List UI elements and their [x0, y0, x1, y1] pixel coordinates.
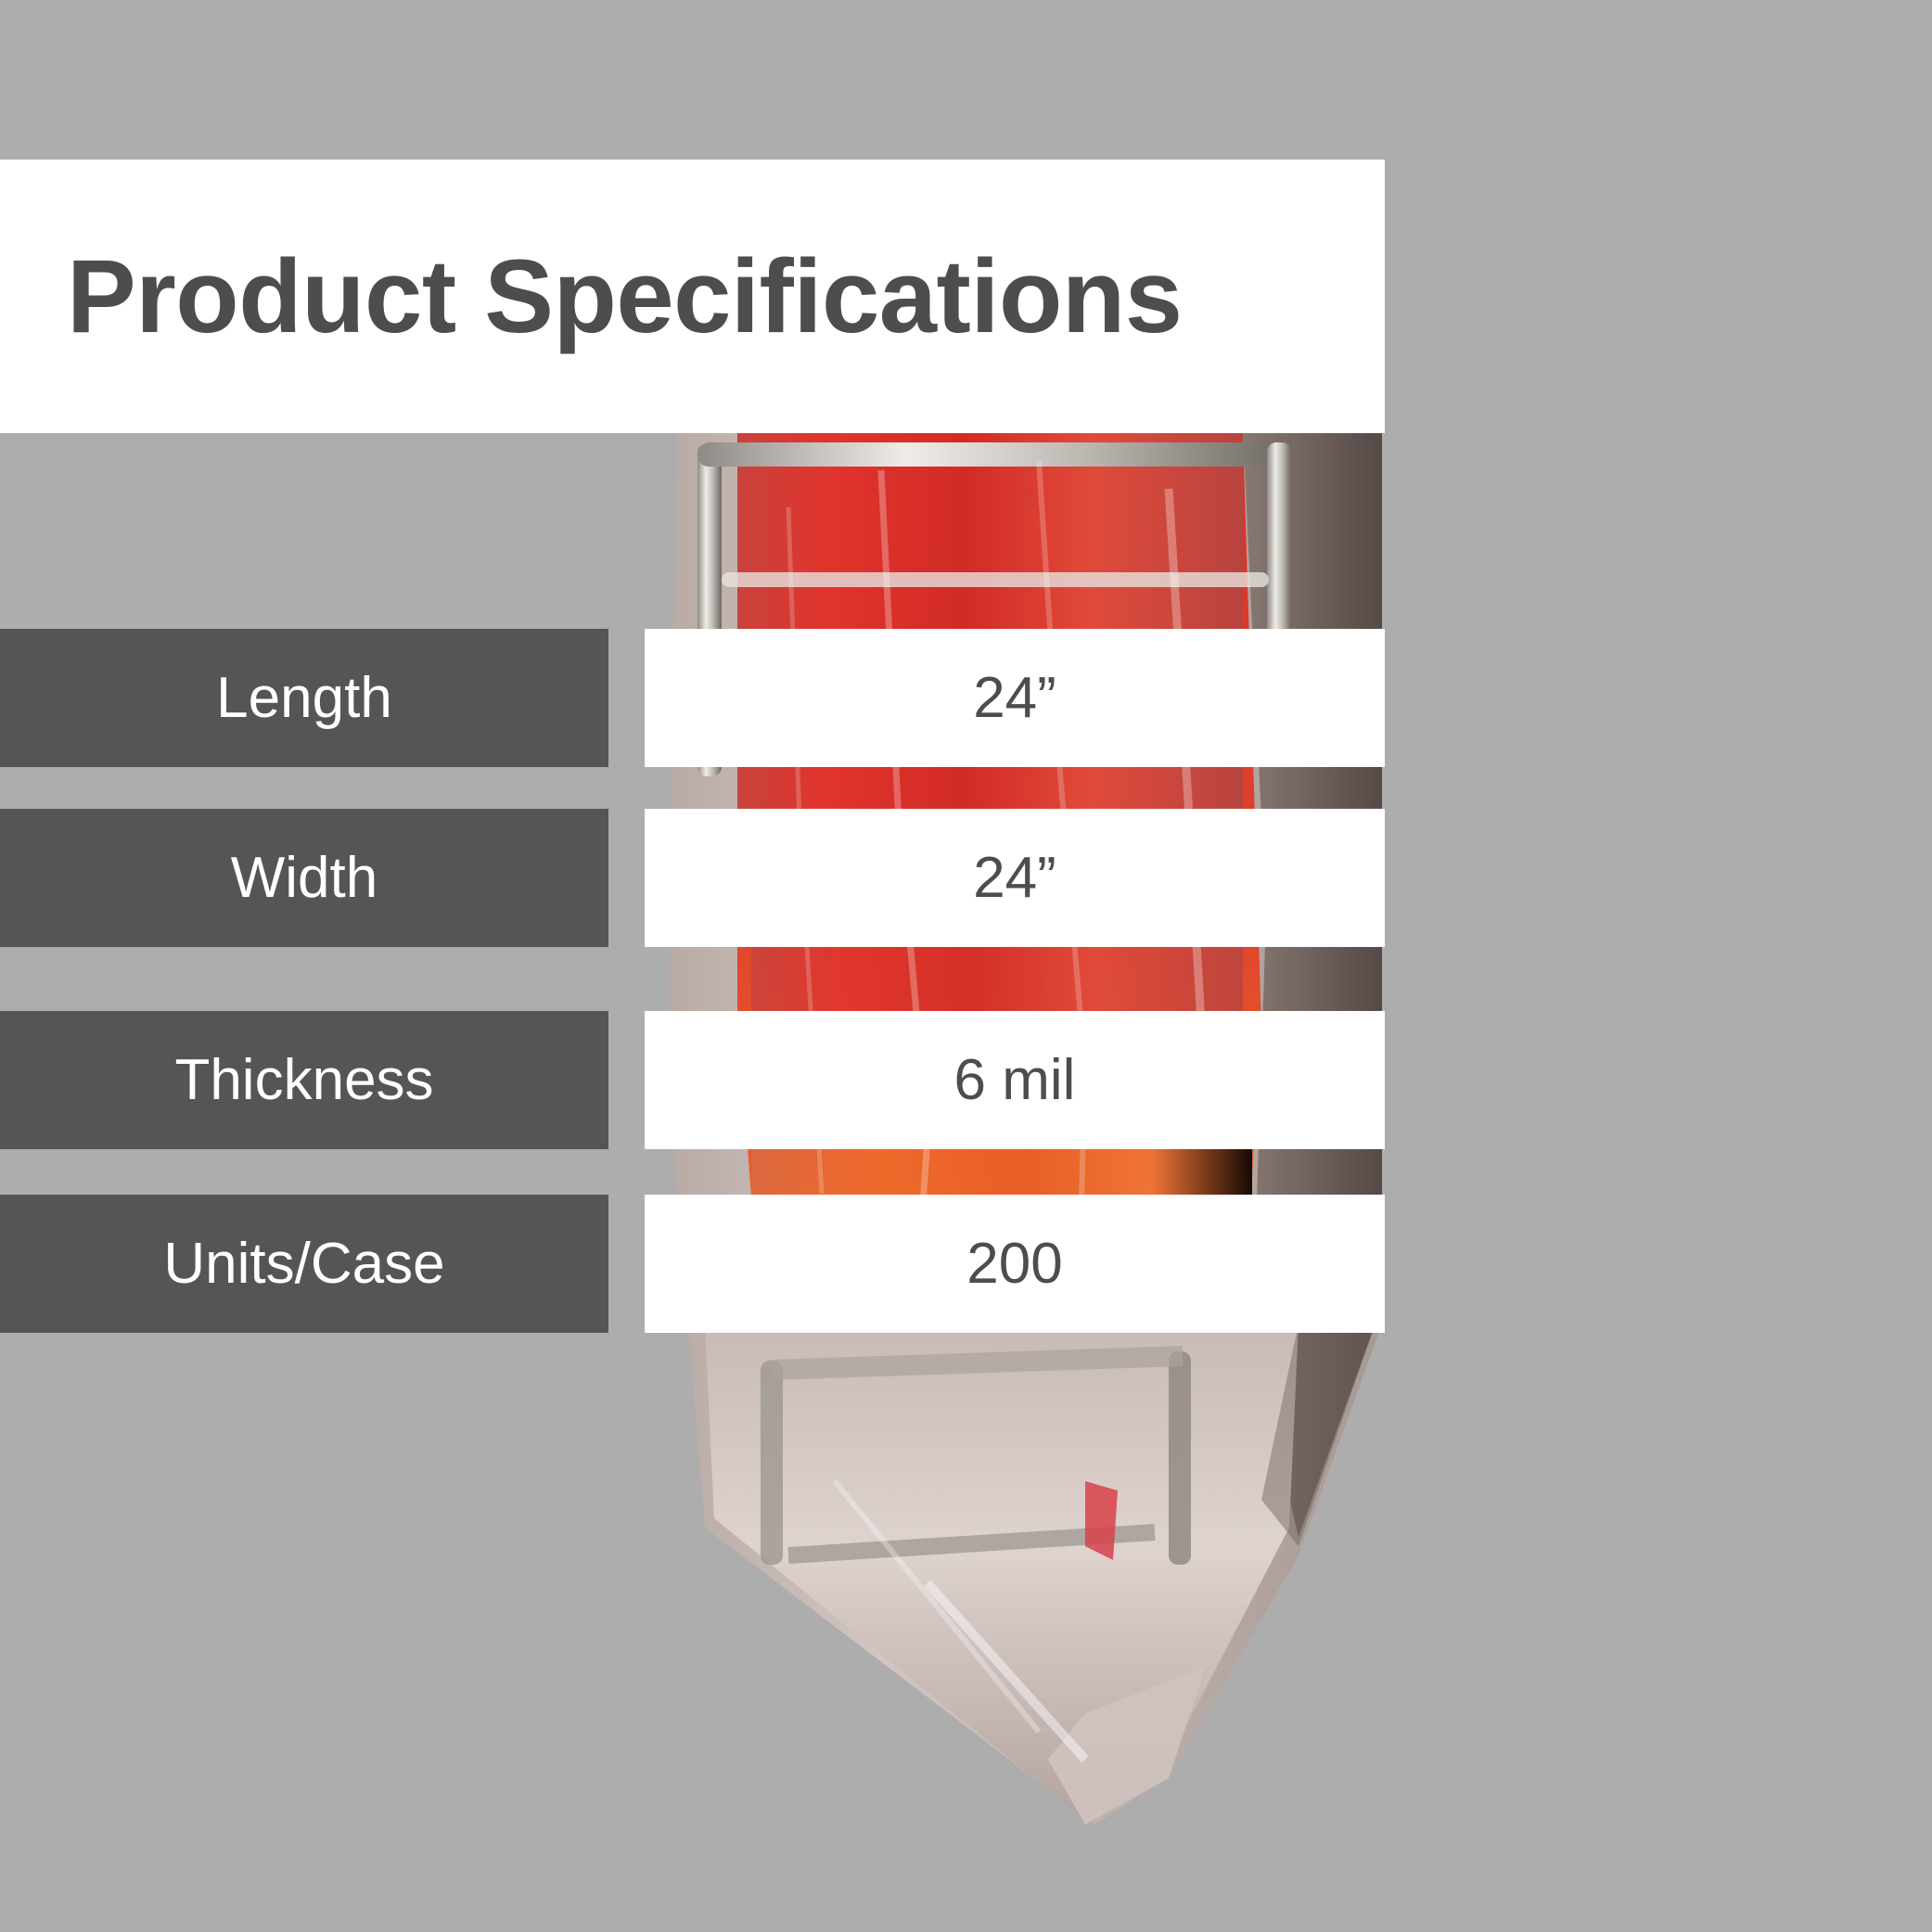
spec-label-length: Length	[0, 629, 608, 767]
spec-label-units-per-case: Units/Case	[0, 1195, 608, 1333]
page-title: Product Specifications	[0, 245, 1183, 349]
spec-row: Thickness 6 mil	[0, 1011, 1385, 1149]
spec-value-thickness: 6 mil	[645, 1011, 1385, 1149]
spec-row: Length 24”	[0, 629, 1385, 767]
spec-value-length: 24”	[645, 629, 1385, 767]
spec-row: Units/Case 200	[0, 1195, 1385, 1333]
title-bar: Product Specifications	[0, 160, 1385, 433]
spec-value-units-per-case: 200	[645, 1195, 1385, 1333]
spec-value-width: 24”	[645, 809, 1385, 947]
spec-row: Width 24”	[0, 809, 1385, 947]
specification-card: Product Specifications Length 24” Width …	[0, 0, 1932, 1932]
spec-label-width: Width	[0, 809, 608, 947]
spec-label-thickness: Thickness	[0, 1011, 608, 1149]
